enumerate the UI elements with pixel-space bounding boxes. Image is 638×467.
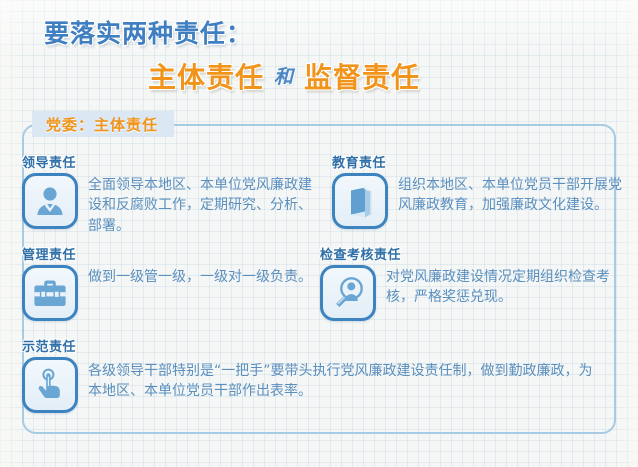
pointing-hand-icon [22,357,78,413]
list-item-management[interactable]: 管理责任 做到一级管一级，一级对一级负责。 [22,244,322,321]
book-icon [332,173,388,229]
infographic-canvas: 要落实两种责任： 主体责任和监督责任 党委：主体责任 领导责任 全面领导本地区、… [0,0,638,467]
title-conjunction: 和 [274,62,294,89]
person-icon [22,173,78,229]
title-supervision-responsibility: 监督责任 [304,61,420,94]
list-item-leadership[interactable]: 领导责任 全面领导本地区、本单位党风廉政建设和反腐败工作，定期研究、分析、部署。 [22,152,322,236]
list-item-education[interactable]: 教育责任 组织本地区、本单位党员干部开展党风廉政教育，加强廉政文化建设。 [332,152,622,229]
item-description: 做到一级管一级，一级对一级负责。 [88,267,312,287]
list-item-example[interactable]: 示范责任 各级领导干部特别是“一把手”要带头执行党风廉政建设责任制，做到勤政廉政… [22,336,602,413]
item-description: 组织本地区、本单位党员干部开展党风廉政教育，加强廉政文化建设。 [398,175,622,216]
item-heading: 教育责任 [332,152,622,171]
title-line-2: 主体责任和监督责任 [148,56,638,96]
title-line-1: 要落实两种责任： [44,14,638,50]
briefcase-icon [22,265,78,321]
magnifier-person-icon [320,265,376,321]
list-item-inspection[interactable]: 检查考核责任 对党风廉政建设情况定期组织检查考核，严格奖惩兑现。 [320,244,620,321]
item-heading: 示范责任 [22,336,602,355]
item-heading: 领导责任 [22,152,322,171]
item-description: 各级领导干部特别是“一把手”要带头执行党风廉政建设责任制，做到勤政廉政，为本地区… [88,361,602,402]
title-main-responsibility: 主体责任 [148,61,264,94]
item-description: 全面领导本地区、本单位党风廉政建设和反腐败工作，定期研究、分析、部署。 [88,175,322,236]
section-tag: 党委：主体责任 [32,111,174,137]
item-heading: 检查考核责任 [320,244,620,263]
item-description: 对党风廉政建设情况定期组织检查考核，严格奖惩兑现。 [386,267,620,308]
section-tag-label: 党委：主体责任 [46,114,158,135]
item-heading: 管理责任 [22,244,322,263]
title-block: 要落实两种责任： 主体责任和监督责任 [0,14,638,96]
